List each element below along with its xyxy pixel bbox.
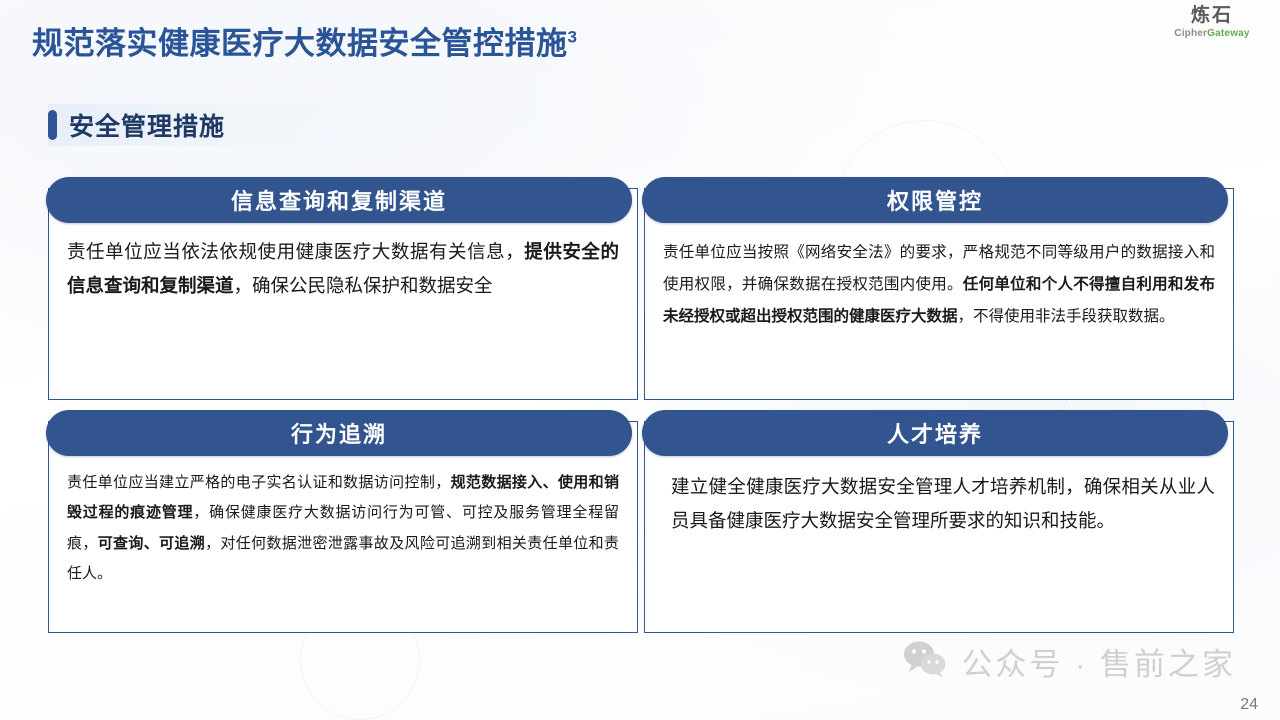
card-title: 行为追溯 (46, 410, 632, 456)
wechat-watermark-text: 公众号 · 售前之家 (961, 639, 1236, 684)
brand-logo-gateway: Gateway (1207, 28, 1250, 39)
brand-logo: 炼石 CipherGateway (1160, 6, 1264, 39)
card-body: 责任单位应当建立严格的电子实名认证和数据访问控制，规范数据接入、使用和销毁过程的… (67, 462, 619, 589)
page-number: 24 (1240, 696, 1258, 714)
wechat-watermark: 公众号 · 售前之家 (903, 639, 1236, 684)
section-heading: 安全管理措施 (48, 104, 408, 146)
card-information-query-and-copy-channel: 信息查询和复制渠道 责任单位应当依法依规使用健康医疗大数据有关信息，提供安全的信… (48, 188, 638, 400)
brand-logo-en: CipherGateway (1160, 29, 1264, 39)
brand-logo-cn: 炼石 (1160, 6, 1264, 25)
slide-canvas: 规范落实健康医疗大数据安全管控措施3 炼石 CipherGateway 安全管理… (0, 0, 1280, 720)
card-body: 责任单位应当按照《网络安全法》的要求，严格规范不同等级用户的数据接入和使用权限，… (663, 229, 1215, 334)
page-title-superscript: 3 (568, 28, 578, 47)
card-body: 责任单位应当依法依规使用健康医疗大数据有关信息，提供安全的信息查询和复制渠道，确… (67, 229, 619, 303)
card-title: 信息查询和复制渠道 (46, 177, 632, 223)
page-title-text: 规范落实健康医疗大数据安全管控措施 (32, 26, 568, 61)
body-text: 责任单位应当建立严格的电子实名认证和数据访问控制， (67, 474, 451, 491)
card-title: 权限管控 (642, 177, 1228, 223)
card-body: 建立健全健康医疗大数据安全管理人才培养机制，确保相关从业人员具备健康医疗大数据安… (663, 462, 1215, 538)
wechat-icon (903, 640, 947, 683)
card-title: 人才培养 (642, 410, 1228, 456)
body-text: ，不得使用非法手段获取数据。 (958, 308, 1175, 325)
page-title: 规范落实健康医疗大数据安全管控措施3 (32, 18, 577, 63)
section-accent-bar (48, 110, 57, 140)
card-permission-control: 权限管控 责任单位应当按照《网络安全法》的要求，严格规范不同等级用户的数据接入和… (644, 188, 1234, 400)
section-heading-label: 安全管理措施 (69, 107, 225, 143)
measures-card-grid: 信息查询和复制渠道 责任单位应当依法依规使用健康医疗大数据有关信息，提供安全的信… (48, 188, 1234, 633)
body-text: 建立健全健康医疗大数据安全管理人才培养机制，确保相关从业人员具备健康医疗大数据安… (671, 476, 1215, 531)
emphasised-text: 可查询、可追溯 (98, 535, 205, 552)
body-text: ，确保公民隐私保护和数据安全 (234, 275, 493, 296)
card-behavior-traceability: 行为追溯 责任单位应当建立严格的电子实名认证和数据访问控制，规范数据接入、使用和… (48, 421, 638, 633)
body-text: 责任单位应当依法依规使用健康医疗大数据有关信息， (67, 241, 524, 262)
card-talent-cultivation: 人才培养 建立健全健康医疗大数据安全管理人才培养机制，确保相关从业人员具备健康医… (644, 421, 1234, 633)
brand-logo-cipher: Cipher (1174, 28, 1207, 39)
